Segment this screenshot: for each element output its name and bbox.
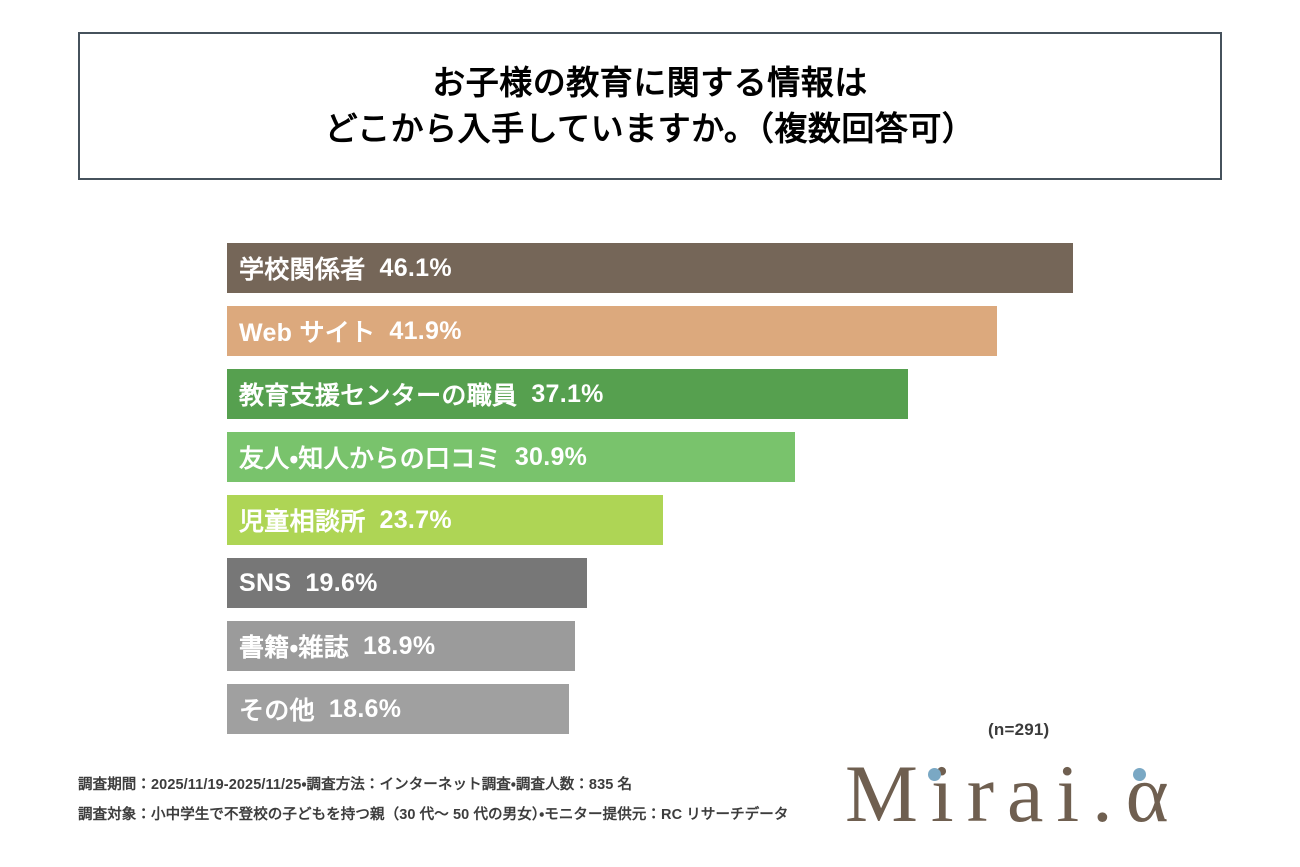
bar-category-label: その他 (227, 691, 315, 727)
bar-value-label: 19.6% (291, 569, 377, 598)
brand-logo-text: Mirai.α (845, 744, 1245, 844)
bar-segment[interactable]: その他18.6% (227, 684, 569, 734)
bar-chart: 学校関係者46.1%Web サイト41.9%教育支援センターの職員37.1%友人… (0, 243, 1300, 747)
bar-category-label: 教育支援センターの職員 (227, 376, 517, 412)
bar-category-label: 書籍・雑誌 (227, 628, 349, 664)
bar-row: SNS19.6% (0, 558, 1300, 608)
bar-value-label: 23.7% (366, 506, 452, 535)
bar-segment[interactable]: Web サイト41.9% (227, 306, 997, 356)
page-title-line-1: お子様の教育に関する情報は (432, 60, 868, 106)
bar-row: 友人・知人からの口コミ30.9% (0, 432, 1300, 482)
bar-segment[interactable]: 書籍・雑誌18.9% (227, 621, 575, 671)
bar-row: 児童相談所23.7% (0, 495, 1300, 545)
bar-category-label: 児童相談所 (227, 502, 366, 538)
bar-value-label: 18.9% (349, 632, 435, 661)
bar-row: Web サイト41.9% (0, 306, 1300, 356)
brand-logo: Mirai.α (845, 744, 1245, 844)
bar-value-label: 30.9% (501, 443, 587, 472)
survey-period-note: 調査期間：2025/11/19-2025/11/25・調査方法：インターネット調… (78, 778, 878, 793)
bar-category-label: 友人・知人からの口コミ (227, 439, 501, 475)
bar-row: 教育支援センターの職員37.1% (0, 369, 1300, 419)
bar-row: 書籍・雑誌18.9% (0, 621, 1300, 671)
bar-segment[interactable]: 友人・知人からの口コミ30.9% (227, 432, 795, 482)
bar-value-label: 18.6% (315, 695, 401, 724)
bar-value-label: 46.1% (366, 254, 452, 283)
bar-segment[interactable]: SNS19.6% (227, 558, 587, 608)
bar-row: その他18.6% (0, 684, 1300, 734)
bar-segment[interactable]: 教育支援センターの職員37.1% (227, 369, 908, 419)
bar-row: 学校関係者46.1% (0, 243, 1300, 293)
bar-value-label: 37.1% (517, 380, 603, 409)
survey-footnotes: 調査期間：2025/11/19-2025/11/25・調査方法：インターネット調… (78, 778, 878, 837)
survey-target-note: 調査対象：小中学生で不登校の子どもを持つ親（30 代〜 50 代の男女）・モニタ… (78, 808, 878, 823)
page-title-line-2: どこから入手していますか。（複数回答可） (325, 106, 976, 152)
bar-category-label: 学校関係者 (227, 250, 366, 286)
bar-segment[interactable]: 学校関係者46.1% (227, 243, 1073, 293)
logo-dot-icon-2 (1133, 768, 1146, 781)
logo-dot-icon-1 (928, 768, 941, 781)
bar-category-label: SNS (227, 569, 291, 598)
bar-value-label: 41.9% (375, 317, 461, 346)
bar-category-label: Web サイト (227, 313, 375, 349)
sample-size-label: (n=291) (988, 720, 1049, 740)
bar-segment[interactable]: 児童相談所23.7% (227, 495, 663, 545)
chart-title-box: お子様の教育に関する情報は どこから入手していますか。（複数回答可） (78, 32, 1222, 180)
